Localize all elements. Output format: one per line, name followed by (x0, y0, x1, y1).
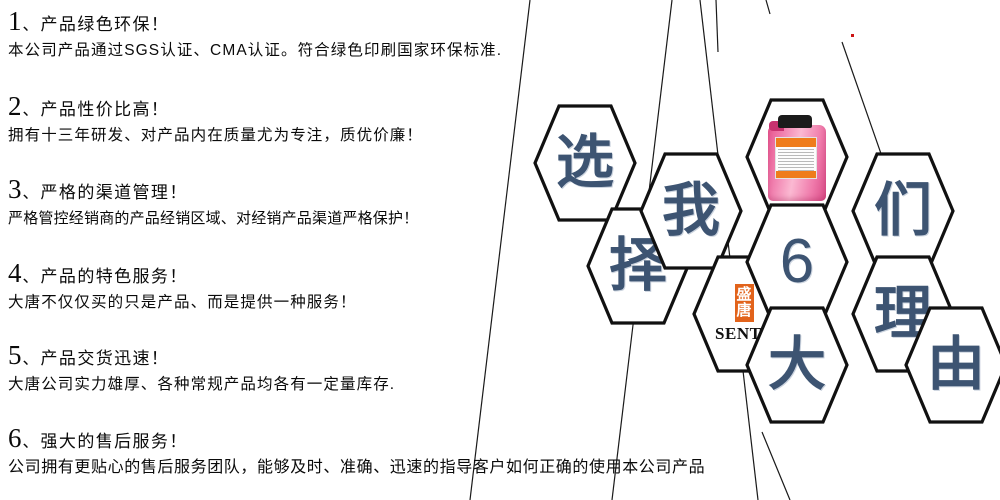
jerrycan-label (775, 137, 817, 179)
hex-cell-men[interactable]: 们 (851, 152, 955, 270)
reason-heading: 2 、 产品性价比高！ (8, 93, 648, 120)
reason-number: 1 (8, 8, 22, 35)
product-jerrycan-image (766, 113, 828, 201)
reason-body: 本公司产品通过SGS认证、CMA认证。符合绿色印刷国家环保标准. (8, 42, 648, 60)
jerrycan-cap (778, 115, 812, 128)
decorative-red-dot (851, 34, 854, 37)
reason-number: 4 (8, 260, 22, 287)
reason-heading: 1 、 产品绿色环保！ (8, 8, 648, 35)
reason-heading: 5 、 产品交货迅速！ (8, 342, 648, 369)
reason-title: 严格的渠道管理！ (41, 184, 188, 201)
reason-title: 产品绿色环保！ (41, 16, 170, 33)
reason-body: 公司拥有更贴心的售后服务团队，能够及时、准确、迅速的指导客户如何正确的使用本公司… (8, 459, 993, 477)
hex-cell-da[interactable]: 大 (745, 306, 849, 424)
hex-glyph: 6 (745, 203, 849, 321)
reason-item-4: 4 、 产品的特色服务！ 大唐不仅仅买的只是产品、而是提供一种服务！ (8, 260, 648, 312)
hex-glyph: 们 (851, 152, 955, 270)
reason-title: 产品性价比高！ (41, 101, 170, 118)
reason-separator: 、 (23, 435, 39, 451)
poster-canvas: 选 择 我 盛 唐 SENTA (0, 0, 1000, 500)
reason-body: 拥有十三年研发、对产品内在质量尤为专注，质优价廉！ (8, 127, 648, 145)
reason-separator: 、 (23, 352, 39, 368)
reason-heading: 3 、 严格的渠道管理！ (8, 176, 648, 203)
reason-title: 强大的售后服务！ (41, 433, 188, 450)
hex-glyph: 我 (639, 152, 743, 270)
reason-item-1: 1 、 产品绿色环保！ 本公司产品通过SGS认证、CMA认证。符合绿色印刷国家环… (8, 8, 648, 60)
reason-number: 5 (8, 342, 22, 369)
reason-body: 大唐不仅仅买的只是产品、而是提供一种服务！ (8, 294, 648, 312)
reason-number: 3 (8, 176, 22, 203)
reason-separator: 、 (23, 270, 39, 286)
reason-body: 严格管控经销商的产品经销区域、对经销产品渠道严格保护！ (8, 210, 648, 227)
reason-heading: 6 、 强大的售后服务！ (8, 425, 993, 452)
reason-number: 2 (8, 93, 22, 120)
reason-item-2: 2 、 产品性价比高！ 拥有十三年研发、对产品内在质量尤为专注，质优价廉！ (8, 93, 648, 145)
reason-body: 大唐公司实力雄厚、各种常规产品均各有一定量库存. (8, 376, 648, 394)
reason-heading: 4 、 产品的特色服务！ (8, 260, 648, 287)
hex-cell-six[interactable]: 6 (745, 203, 849, 321)
label-text-lines (776, 147, 816, 171)
label-header-band (776, 138, 816, 147)
reason-item-3: 3 、 严格的渠道管理！ 严格管控经销商的产品经销区域、对经销产品渠道严格保护！ (8, 176, 648, 227)
hex-cell-product-photo[interactable] (745, 98, 849, 216)
reason-separator: 、 (23, 186, 39, 202)
reason-separator: 、 (23, 103, 39, 119)
reason-number: 6 (8, 425, 22, 452)
label-footer-band (776, 171, 816, 178)
reason-item-6: 6 、 强大的售后服务！ 公司拥有更贴心的售后服务团队，能够及时、准确、迅速的指… (8, 425, 993, 477)
hex-cell-you[interactable]: 由 (904, 306, 1000, 424)
hex-cell-wo[interactable]: 我 (639, 152, 743, 270)
hex-glyph: 大 (745, 306, 849, 424)
reason-title: 产品交货迅速！ (41, 350, 170, 367)
reason-item-5: 5 、 产品交货迅速！ 大唐公司实力雄厚、各种常规产品均各有一定量库存. (8, 342, 648, 394)
reason-separator: 、 (23, 18, 39, 34)
hex-glyph: 由 (904, 306, 1000, 424)
reason-title: 产品的特色服务！ (41, 268, 188, 285)
reason-list: 1 、 产品绿色环保！ 本公司产品通过SGS认证、CMA认证。符合绿色印刷国家环… (8, 0, 648, 500)
